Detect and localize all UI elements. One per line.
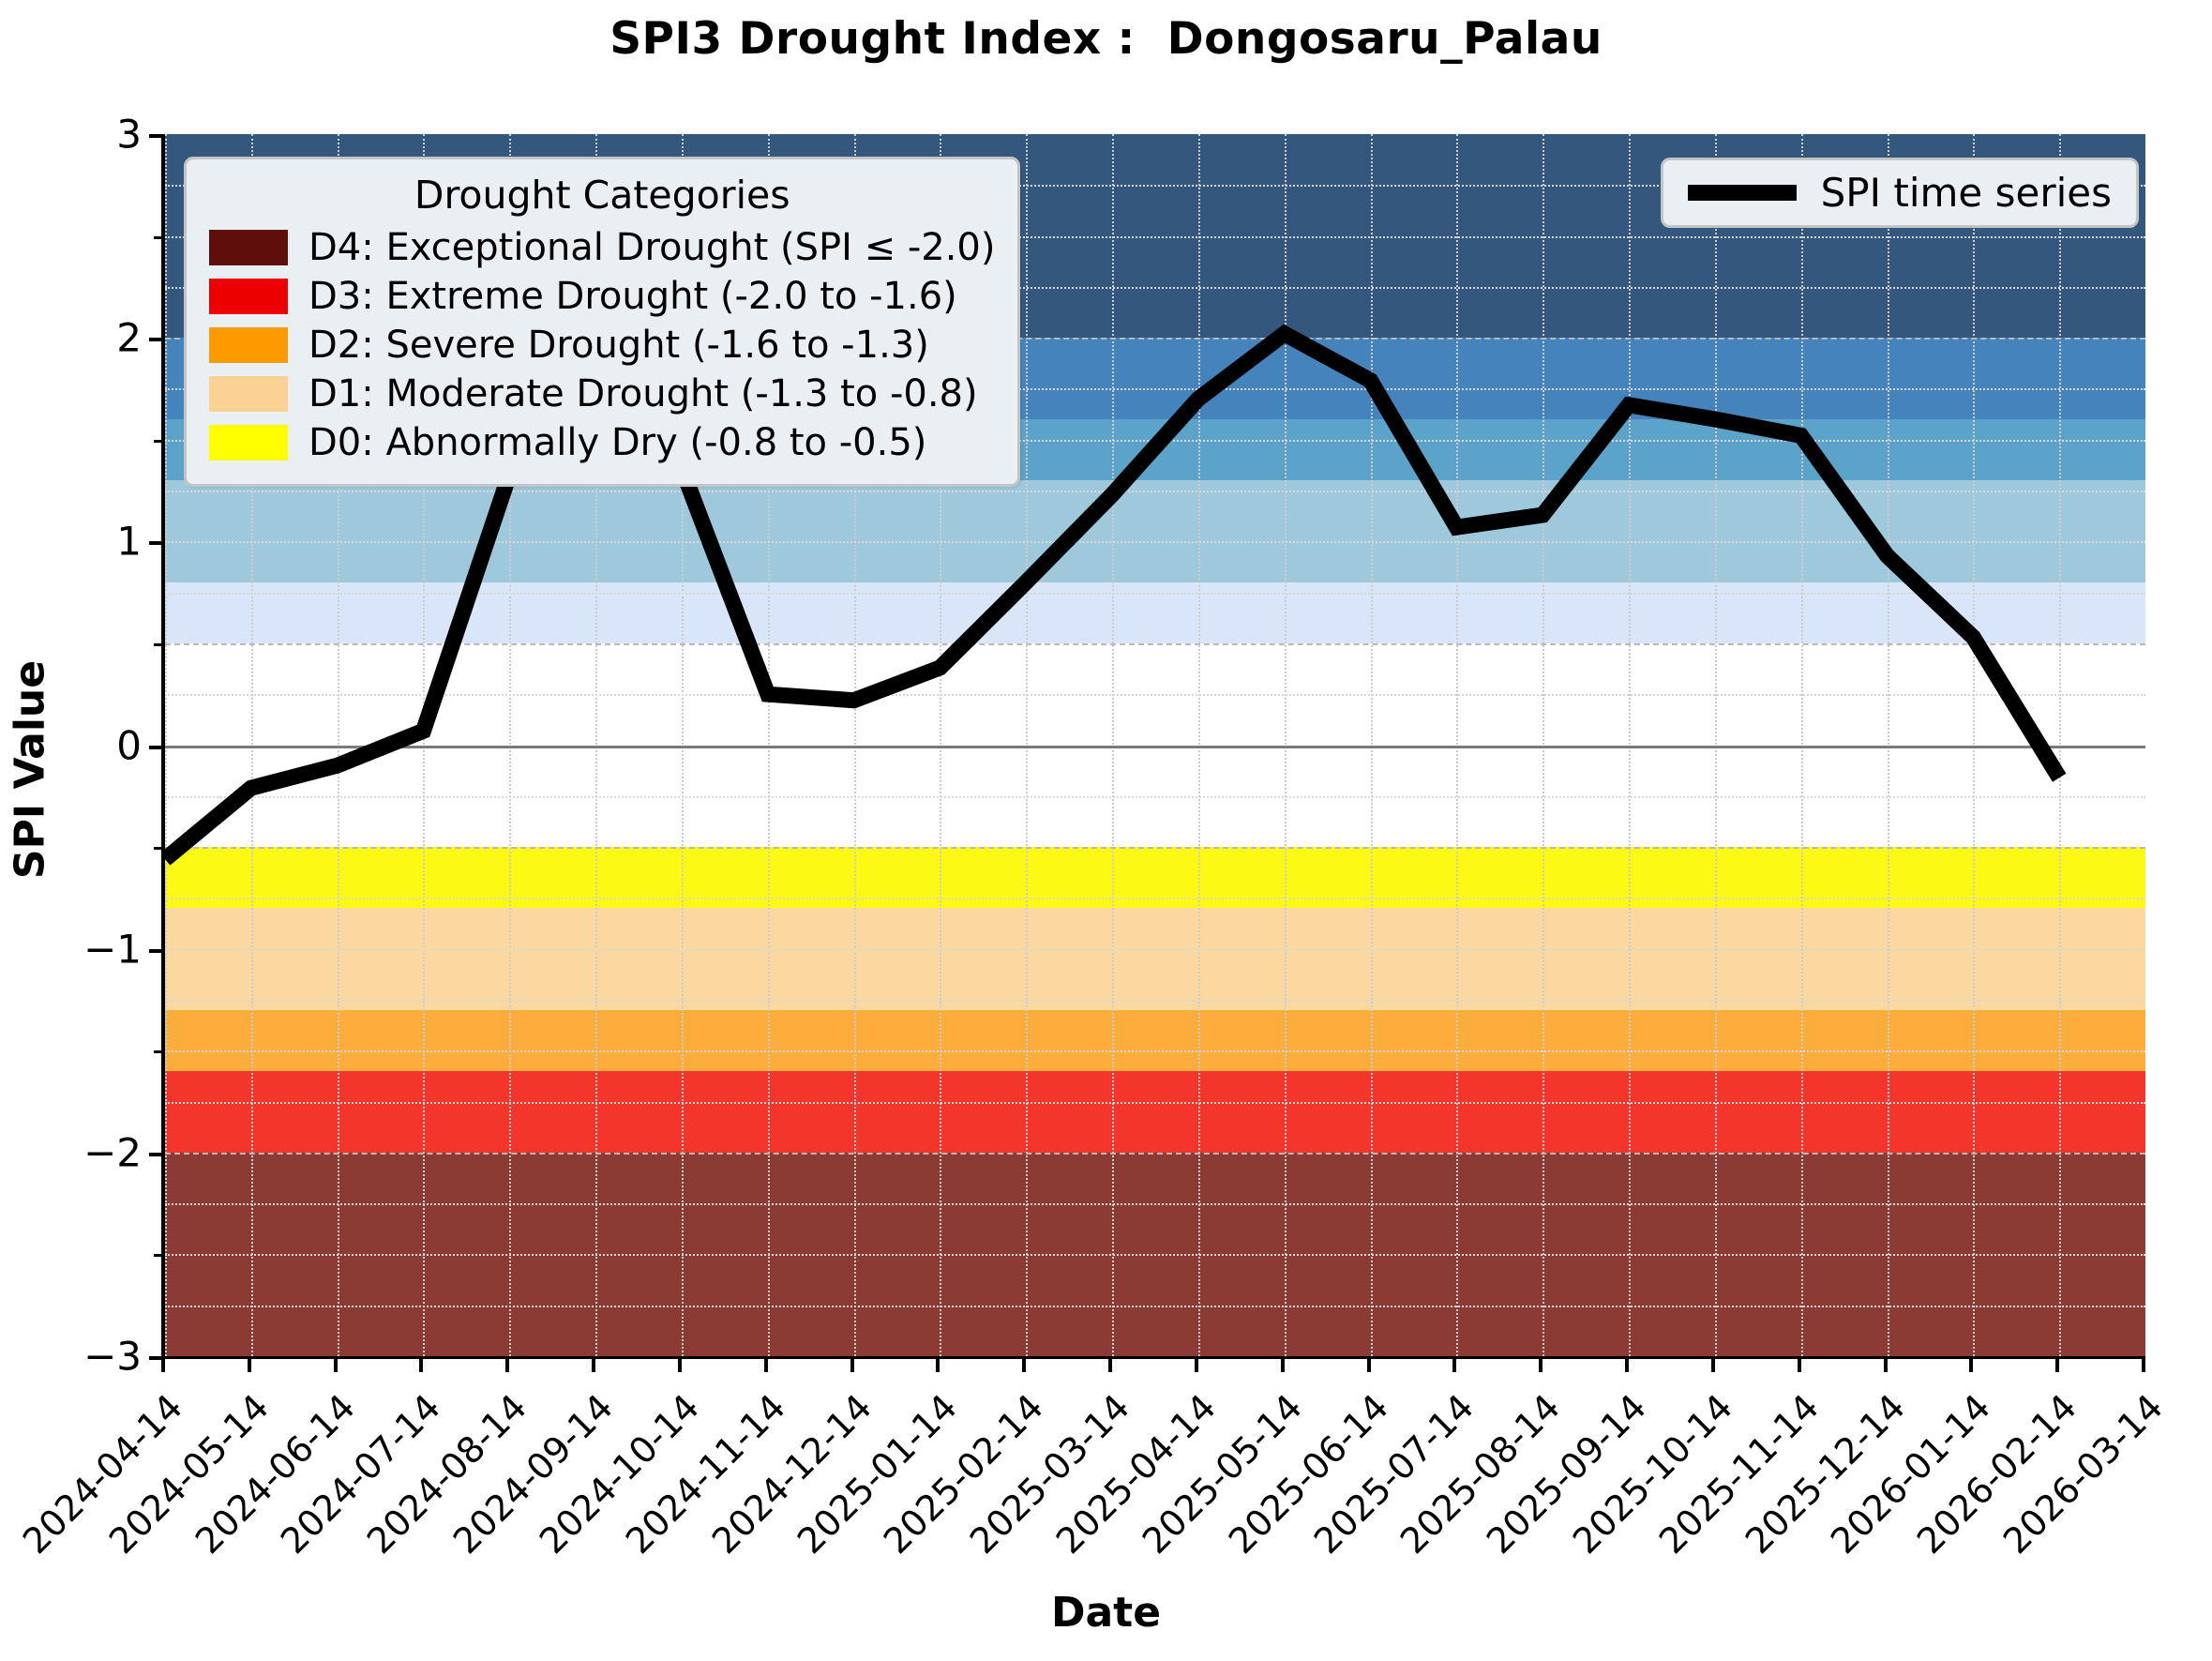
- drought-legend-item-label: D3: Extreme Drought (-2.0 to -1.6): [308, 275, 957, 318]
- drought-legend-title: Drought Categories: [209, 173, 995, 218]
- x-tick-mark: [936, 1359, 940, 1372]
- legend-swatch-icon: [209, 425, 288, 461]
- drought-legend-rows: D4: Exceptional Drought (SPI ≤ -2.0)D3: …: [209, 223, 995, 467]
- spi-drought-chart-figure: SPI3 Drought Index : Dongosaru_Palau 321…: [0, 0, 2212, 1661]
- y-tick-mark: [149, 134, 161, 138]
- x-tick-mark: [1367, 1359, 1371, 1372]
- legend-swatch-icon: [209, 376, 288, 412]
- legend-swatch-icon: [209, 327, 288, 363]
- x-tick-mark: [1625, 1359, 1629, 1372]
- y-tick-mark: [149, 1153, 161, 1156]
- y-tick-mark-minor: [154, 1254, 161, 1257]
- y-tick-mark: [149, 746, 161, 749]
- y-tick-label: −2: [83, 1129, 142, 1175]
- x-tick-mark: [2055, 1359, 2059, 1372]
- drought-categories-legend[interactable]: Drought Categories D4: Exceptional Droug…: [184, 157, 1020, 487]
- x-tick-mark: [850, 1359, 854, 1372]
- x-tick-mark: [678, 1359, 682, 1372]
- x-tick-mark: [419, 1359, 423, 1372]
- y-tick-mark-minor: [154, 643, 161, 646]
- x-tick-mark: [1195, 1359, 1198, 1372]
- x-tick-mark: [592, 1359, 595, 1372]
- x-tick-mark: [1108, 1359, 1112, 1372]
- x-tick-mark: [1539, 1359, 1542, 1372]
- x-tick-mark: [1022, 1359, 1026, 1372]
- drought-legend-item[interactable]: D4: Exceptional Drought (SPI ≤ -2.0): [209, 223, 995, 272]
- x-tick-mark: [1884, 1359, 1888, 1372]
- x-tick-mark: [1711, 1359, 1715, 1372]
- x-tick-mark: [1798, 1359, 1801, 1372]
- y-tick-label: 1: [116, 519, 142, 565]
- series-legend-swatch-icon: [1688, 185, 1797, 201]
- y-tick-mark: [149, 541, 161, 545]
- y-tick-mark-minor: [154, 440, 161, 443]
- series-legend[interactable]: SPI time series: [1661, 158, 2139, 228]
- drought-legend-item-label: D0: Abnormally Dry (-0.8 to -0.5): [308, 421, 926, 464]
- series-legend-label: SPI time series: [1821, 170, 2112, 216]
- y-tick-label: 3: [116, 112, 142, 158]
- y-axis-label: SPI Value: [7, 489, 54, 1051]
- drought-legend-item[interactable]: D3: Extreme Drought (-2.0 to -1.6): [209, 272, 995, 321]
- y-tick-label: −3: [83, 1334, 142, 1380]
- x-tick-mark: [334, 1359, 338, 1372]
- drought-legend-item-label: D1: Moderate Drought (-1.3 to -0.8): [308, 372, 978, 415]
- x-tick-mark: [1281, 1359, 1285, 1372]
- y-tick-mark-minor: [154, 847, 161, 850]
- drought-legend-item[interactable]: D1: Moderate Drought (-1.3 to -0.8): [209, 370, 995, 418]
- y-tick-label: 0: [116, 722, 142, 768]
- x-tick-mark: [1969, 1359, 1973, 1372]
- y-tick-mark: [149, 1356, 161, 1360]
- drought-legend-item-label: D4: Exceptional Drought (SPI ≤ -2.0): [308, 226, 995, 269]
- drought-legend-item-label: D2: Severe Drought (-1.6 to -1.3): [308, 324, 929, 367]
- x-tick-mark: [1452, 1359, 1456, 1372]
- x-tick-mark: [248, 1359, 251, 1372]
- y-tick-label: 2: [116, 315, 142, 361]
- x-tick-mark: [161, 1359, 165, 1372]
- drought-legend-item[interactable]: D2: Severe Drought (-1.6 to -1.3): [209, 321, 995, 370]
- x-tick-mark: [764, 1359, 768, 1372]
- y-tick-mark: [149, 949, 161, 953]
- x-tick-mark: [505, 1359, 509, 1372]
- x-axis-label: Date: [0, 1589, 2212, 1637]
- y-tick-mark: [149, 338, 161, 341]
- legend-swatch-icon: [209, 279, 288, 314]
- y-tick-mark-minor: [154, 236, 161, 239]
- drought-legend-item[interactable]: D0: Abnormally Dry (-0.8 to -0.5): [209, 418, 995, 467]
- x-tick-mark: [2142, 1359, 2145, 1372]
- y-tick-label: −1: [83, 926, 142, 972]
- page-title: SPI3 Drought Index : Dongosaru_Palau: [0, 13, 2212, 65]
- legend-swatch-icon: [209, 230, 288, 265]
- y-tick-mark-minor: [154, 1050, 161, 1053]
